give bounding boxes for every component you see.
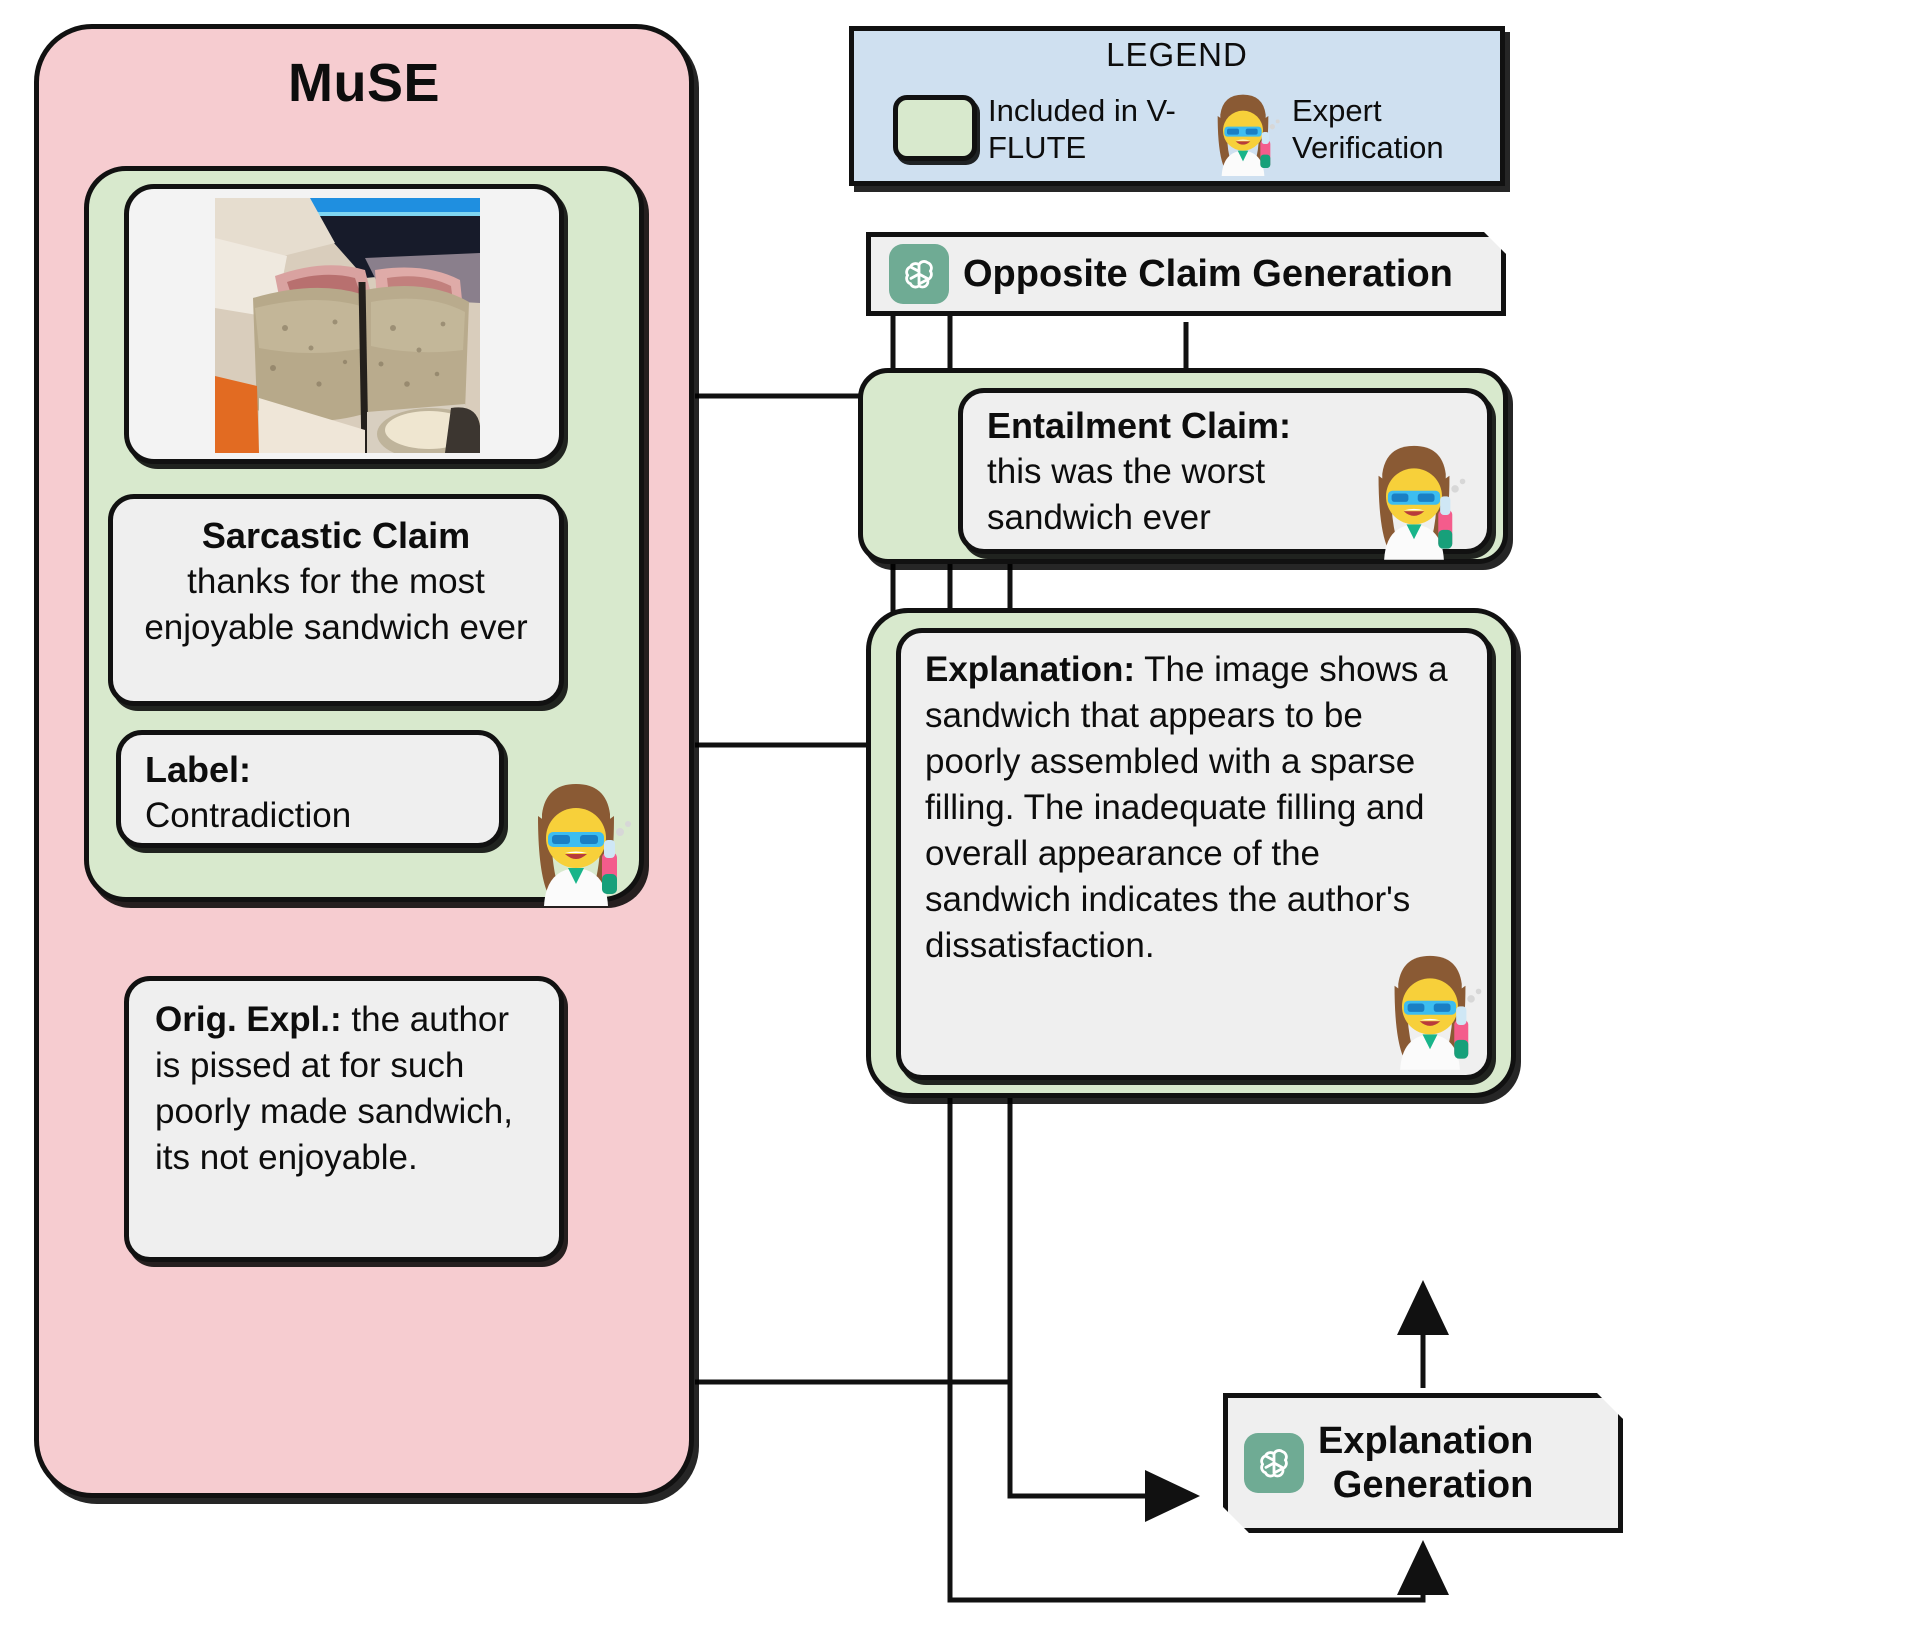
explanation-heading: Explanation: xyxy=(925,650,1135,689)
label-heading: Label: xyxy=(145,747,477,793)
sarcastic-claim-text: thanks for the most enjoyable sandwich e… xyxy=(135,559,537,651)
orig-explanation-box: Orig. Expl.: the author is pissed at for… xyxy=(124,976,564,1262)
explanation-generation-label-line1: Explanation xyxy=(1318,1419,1533,1463)
legend-title: LEGEND xyxy=(849,36,1505,74)
explanation-text: The image shows a sandwich that appears … xyxy=(925,650,1448,965)
openai-logo-icon xyxy=(1244,1433,1304,1493)
legend-included-label: Included in V-FLUTE xyxy=(988,92,1178,166)
sarcastic-claim-heading: Sarcastic Claim xyxy=(135,513,537,559)
explanation-generation-label-line2: Generation xyxy=(1318,1463,1533,1507)
opposite-claim-generation-box[interactable]: Opposite Claim Generation xyxy=(866,232,1506,316)
sandwich-photo xyxy=(215,198,480,453)
opposite-claim-generation-label: Opposite Claim Generation xyxy=(963,252,1453,296)
openai-logo-icon xyxy=(889,244,949,304)
entailment-claim-heading: Entailment Claim: xyxy=(987,403,1467,449)
muse-title: MuSE xyxy=(34,52,694,114)
label-box: Label: Contradiction xyxy=(116,730,504,848)
explanation-generation-box[interactable]: Explanation Generation xyxy=(1223,1393,1623,1533)
orig-explanation-heading: Orig. Expl.: xyxy=(155,1000,342,1039)
entailment-claim-box: Entailment Claim: this was the worst san… xyxy=(958,388,1492,554)
vflute-swatch-icon xyxy=(893,95,977,161)
label-value: Contradiction xyxy=(145,793,477,839)
legend-expert-label: Expert Verification xyxy=(1292,92,1532,166)
entailment-claim-text: this was the worst sandwich ever xyxy=(987,449,1467,541)
explanation-box: Explanation: The image shows a sandwich … xyxy=(896,628,1492,1080)
sarcastic-claim-box: Sarcastic Claim thanks for the most enjo… xyxy=(108,494,564,706)
